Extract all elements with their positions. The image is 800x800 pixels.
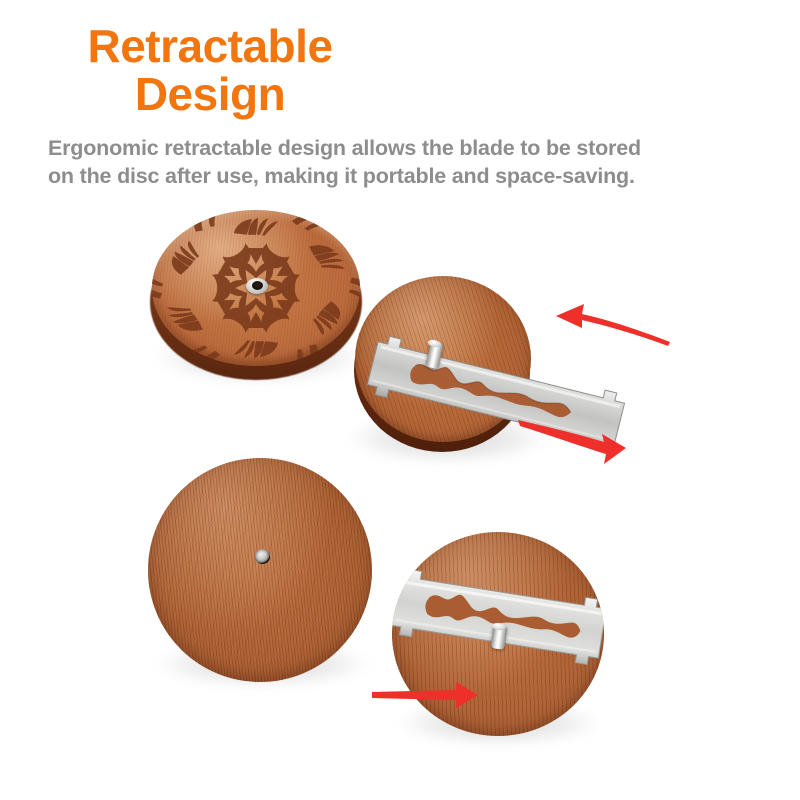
disc-plain-pivot-hole [255,549,270,564]
disc-carved-rivet-hole [252,281,263,290]
title-line-2: Design [0,70,420,118]
disc-carved-mandala [150,210,362,380]
subtitle-line-1: Ergonomic retractable design allows the … [48,134,800,162]
disc-plain-back [148,458,376,686]
arrow-blade-out-top-icon [552,302,672,348]
disc-plain-face [148,458,372,682]
mandala-carving-icon [150,210,362,380]
arrow-blade-store-icon [372,676,482,716]
title-line-1: Retractable [0,22,420,70]
page-title: Retractable Design [0,22,420,118]
product-feature-image: Retractable Design Ergonomic retractable… [0,0,800,800]
subtitle-line-2: on the disc after use, making it portabl… [48,162,800,190]
page-subtitle: Ergonomic retractable design allows the … [48,134,800,190]
arrow-blade-out-bottom-icon [518,420,628,466]
